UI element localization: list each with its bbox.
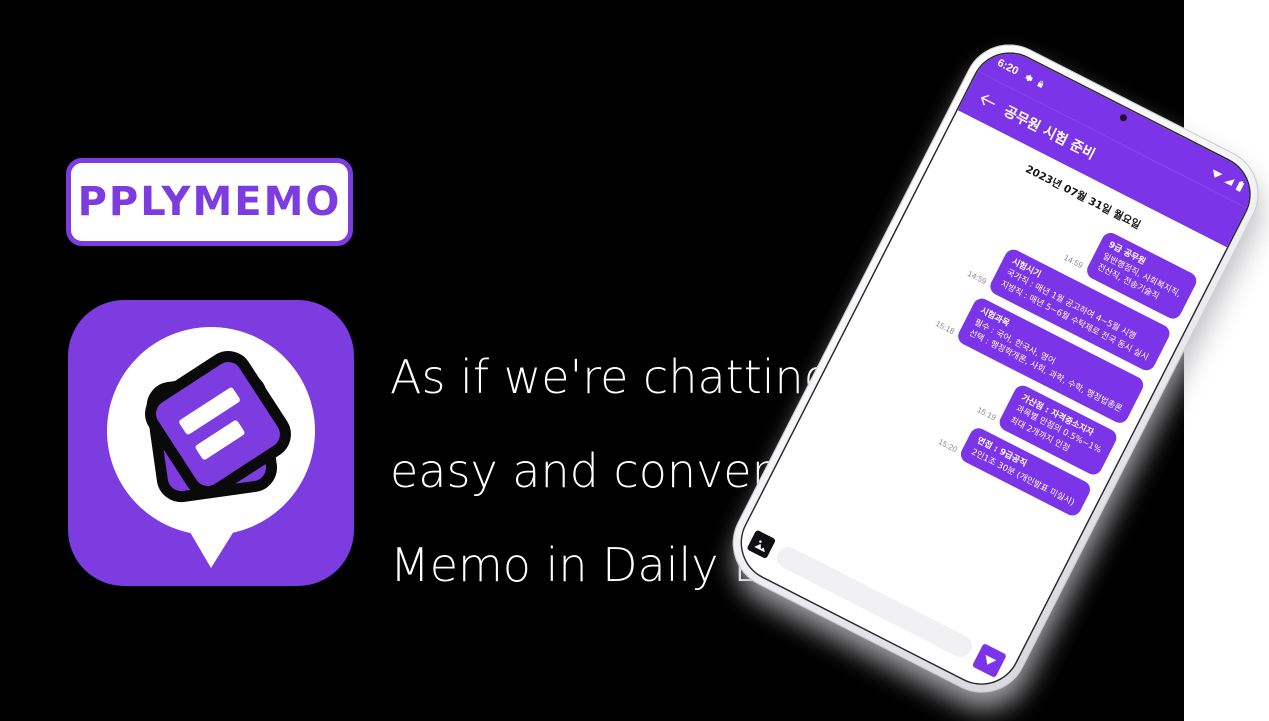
brand-wordmark-text: PPLYMEMO [78,179,342,225]
brand-wordmark-badge: PPLYMEMO [66,158,353,246]
message-timestamp: 14:59 [965,269,988,288]
back-arrow-icon[interactable] [977,91,999,111]
message-timestamp: 15:18 [933,319,956,338]
status-bar-time: 6:20 [995,57,1020,78]
battery-icon [1235,179,1245,192]
wifi-icon [1210,167,1224,180]
signal-icon [1223,174,1236,187]
image-gallery-icon[interactable] [746,530,776,560]
message-timestamp: 15:20 [936,437,959,456]
message-timestamp: 14:59 [1062,253,1085,272]
promo-banner: PPLYMEMO As if we're chatting easy and c… [0,0,1269,721]
camera-notch-icon [1119,113,1128,122]
send-paper-plane-icon[interactable] [972,643,1007,678]
pplymemo-app-icon [68,300,354,586]
gear-icon [1022,71,1035,84]
message-timestamp: 15:19 [975,405,998,424]
lock-icon [1035,78,1047,91]
